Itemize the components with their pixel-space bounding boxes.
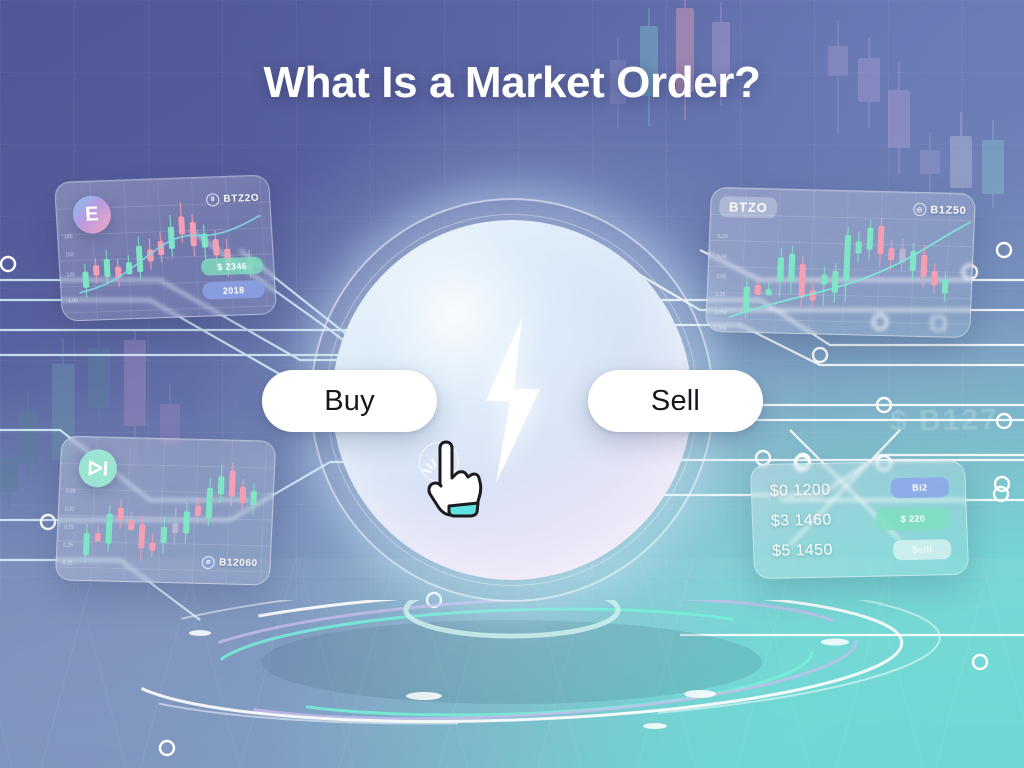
sell-button[interactable]: Sell (588, 370, 763, 432)
buy-button[interactable]: Buy (262, 370, 437, 432)
price-value: $0 1200 (770, 482, 831, 501)
pair-badge: ø B12060 (202, 556, 258, 570)
sell-button-label: Sell (651, 385, 700, 418)
pair-label: B12060 (219, 557, 258, 569)
price-tag-blue: 2018 (202, 281, 265, 300)
chart-card-top-right[interactable]: BTZO ◎ B1Z50 5.20 5.00 3.00 1.35 1.052 1… (705, 187, 976, 338)
market-order-illustration: $ B127 E 9 BTZ2O 100 150 120 1.00 (0, 0, 1024, 768)
pointing-hand-cursor-icon[interactable] (418, 440, 488, 520)
order-badge-amount[interactable]: $ 220 (876, 507, 951, 531)
order-row-price: $0 1200 (770, 482, 831, 501)
order-book-card[interactable]: $0 1200 $3 1460 $5 1450 Bi2 $ 220 Selll (750, 460, 969, 579)
candlestick-series (55, 175, 276, 320)
price-value: $3 1460 (771, 512, 832, 531)
order-badge-sell[interactable]: Selll (893, 539, 952, 560)
buy-button-label: Buy (324, 385, 375, 418)
background-candles-top-right (820, 14, 1024, 204)
token-icon: ø (202, 556, 216, 569)
chart-card-top-left[interactable]: E 9 BTZ2O 100 150 120 1.00 $ 2346 (54, 174, 277, 321)
price-value: $5 1450 (772, 542, 833, 561)
page-title: What Is a Market Order? (0, 58, 1024, 108)
order-row-price: $3 1460 (771, 512, 832, 531)
order-badge-buy[interactable]: Bi2 (890, 477, 949, 498)
ripple-rings (0, 600, 1024, 750)
ghost-watermark: $ B127 (890, 403, 999, 439)
order-row-price: $5 1450 (772, 542, 833, 561)
candlestick-series (706, 188, 975, 337)
price-tag-green: $ 2346 (201, 257, 264, 276)
chart-card-bottom-left[interactable]: ᐅƖ 0.35 0.32 0.29 0.25 0.22 ø B12060 (55, 435, 277, 585)
